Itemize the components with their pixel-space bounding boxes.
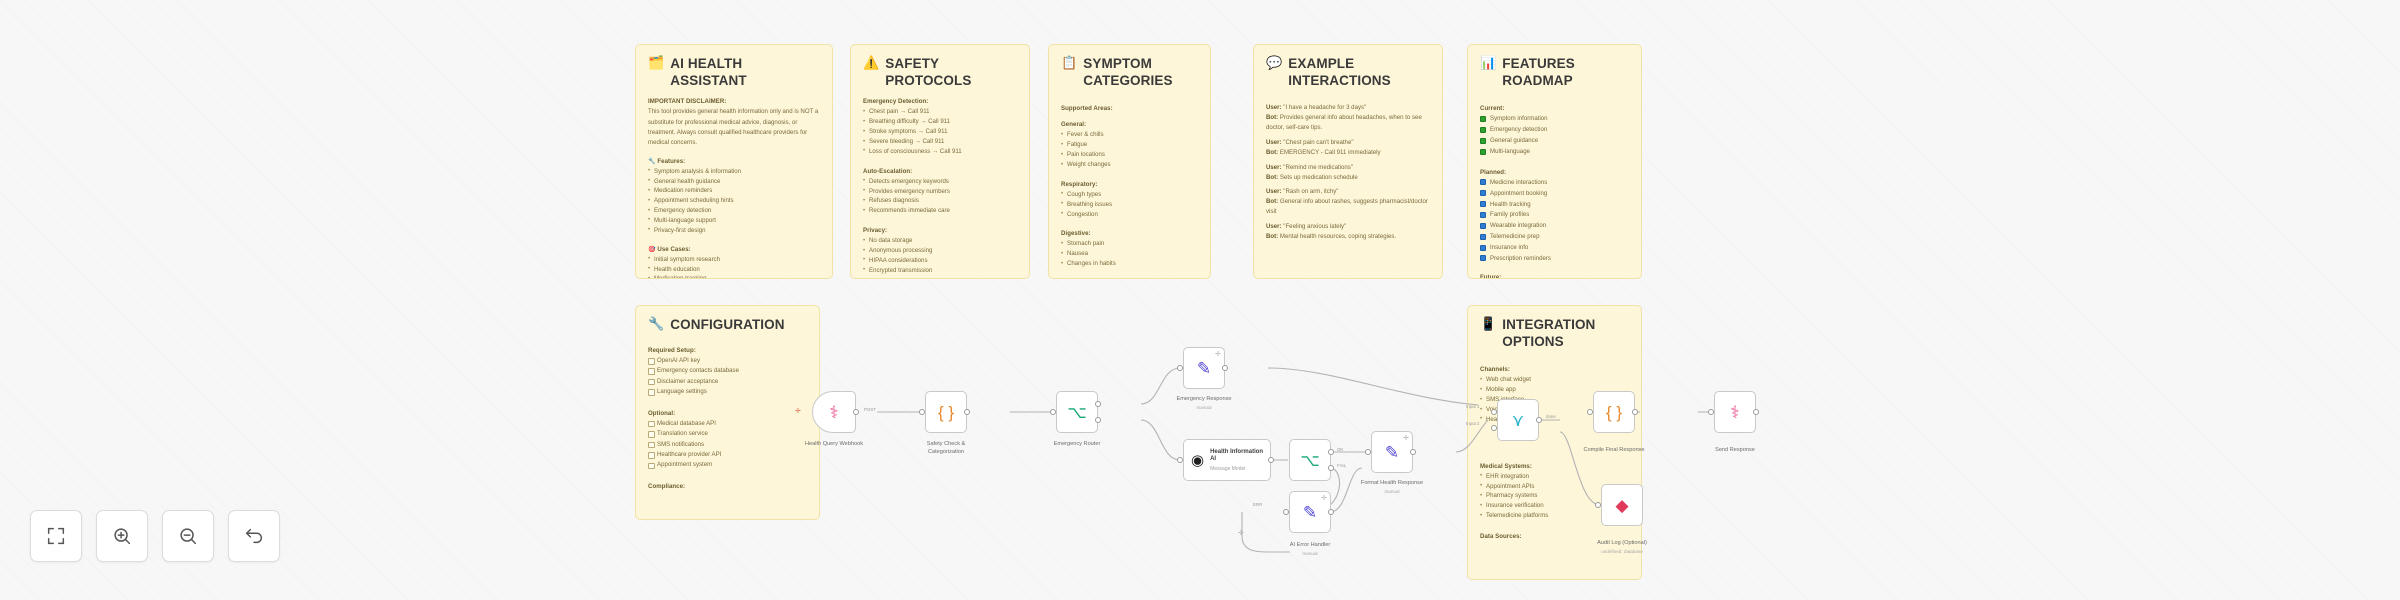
add-node-plus[interactable]: ✛	[1321, 495, 1327, 502]
fit-view-icon	[45, 525, 67, 547]
node-health-information-ai[interactable]: ◉ Health Information AI Message Model	[1183, 439, 1271, 481]
node-audit-log[interactable]: ◆	[1601, 484, 1643, 526]
canvas-toolbar[interactable]	[30, 510, 280, 562]
merge-icon: ⋎	[1512, 412, 1524, 429]
node-compile-final-response[interactable]: { }	[1593, 391, 1635, 433]
node-input-port[interactable]	[1177, 457, 1183, 463]
node-output-port[interactable]	[1222, 365, 1228, 371]
node-input-port[interactable]	[1708, 409, 1714, 415]
zoom-in-button[interactable]	[96, 510, 148, 562]
webhook-icon: ⚕	[1730, 404, 1739, 421]
node-output-port[interactable]	[1632, 409, 1638, 415]
merge-input-2-port[interactable]	[1491, 425, 1497, 431]
node-input-port[interactable]	[1365, 449, 1371, 455]
node-send-response[interactable]: ⚕	[1714, 391, 1756, 433]
node-emergency-router[interactable]: ⌥	[1056, 391, 1098, 433]
edge-label: ERR	[1253, 502, 1262, 507]
edit-icon: ✎	[1385, 444, 1399, 461]
webhook-icon: ⚕	[829, 404, 838, 421]
fit-view-button[interactable]	[30, 510, 82, 562]
switch-icon: ⌥	[1300, 452, 1320, 469]
node-sublabel: undefined: database	[1601, 549, 1643, 554]
node-safety-check[interactable]: { }	[925, 391, 967, 433]
zoom-out-button[interactable]	[162, 510, 214, 562]
node-output-port[interactable]	[964, 409, 970, 415]
code-icon: { }	[1606, 404, 1622, 421]
add-node-plus[interactable]: ✛	[1403, 435, 1409, 442]
node-label: Safety Check & Categorization	[911, 441, 981, 456]
node-input-port[interactable]	[1283, 509, 1289, 515]
node-output-port-fail[interactable]	[1328, 465, 1334, 471]
node-output-port-false[interactable]	[1095, 417, 1101, 423]
node-output-port-ok[interactable]	[1328, 449, 1334, 455]
add-node-plus[interactable]: ✛	[1238, 530, 1244, 537]
node-sublabel: manual	[1302, 551, 1317, 556]
node-output-port[interactable]	[1268, 457, 1274, 463]
node-output-port[interactable]	[1328, 509, 1334, 515]
add-node-plus[interactable]: ✛	[795, 408, 801, 415]
switch-icon: ⌥	[1067, 404, 1087, 421]
edit-icon: ✎	[1303, 504, 1317, 521]
node-label: Audit Log (Optional)	[1597, 540, 1647, 548]
add-node-plus[interactable]: ✛	[1215, 351, 1221, 358]
node-subtitle: Message Model	[1210, 466, 1270, 472]
edge-label: Input 1	[1466, 404, 1479, 409]
merge-input-1-port[interactable]	[1491, 409, 1497, 415]
node-output-port[interactable]	[1410, 449, 1416, 455]
node-format-health-response[interactable]: ✎ ✛	[1371, 431, 1413, 473]
edge-label: FAIL	[1337, 463, 1346, 468]
zoom-in-icon	[111, 525, 133, 547]
node-label: Send Response	[1715, 447, 1755, 455]
node-health-query-webhook[interactable]: ⚕	[812, 391, 856, 433]
code-icon: { }	[938, 404, 954, 421]
edge-label: OK	[1337, 447, 1343, 452]
node-input-port[interactable]	[1595, 502, 1601, 508]
database-icon: ◆	[1615, 497, 1628, 514]
zoom-out-icon	[177, 525, 199, 547]
node-input-port[interactable]	[1177, 365, 1183, 371]
node-output-port[interactable]	[853, 409, 859, 415]
node-title: Health Information AI	[1210, 449, 1270, 464]
node-emergency-response[interactable]: ✎ ✛	[1183, 347, 1225, 389]
node-ai-error-handler[interactable]: ✎ ✛	[1289, 491, 1331, 533]
node-label: AI Error Handler	[1290, 542, 1330, 550]
node-response-switch[interactable]: ⌥	[1289, 439, 1331, 481]
edge-label: POST	[864, 407, 876, 412]
reset-zoom-button[interactable]	[228, 510, 280, 562]
node-output-port[interactable]	[1536, 417, 1542, 423]
node-output-port-true[interactable]	[1095, 401, 1101, 407]
node-sublabel: manual	[1196, 405, 1211, 410]
node-input-port[interactable]	[1587, 409, 1593, 415]
node-label: Format Health Response	[1361, 480, 1423, 488]
edge-label: done	[1546, 414, 1556, 419]
edge-label: Input 2	[1466, 421, 1479, 426]
node-output-port[interactable]	[1753, 409, 1759, 415]
node-label: Emergency Response	[1176, 396, 1231, 404]
node-label: Health Query Webhook	[805, 441, 863, 449]
openai-icon: ◉	[1191, 453, 1204, 468]
node-merge[interactable]: ⋎	[1497, 399, 1539, 441]
node-input-port[interactable]	[1050, 409, 1056, 415]
workflow-canvas[interactable]: 🗂️ AI HEALTH ASSISTANT IMPORTANT DISCLAI…	[0, 0, 2400, 600]
undo-arrow-icon	[243, 525, 265, 547]
node-sublabel: manual	[1384, 489, 1399, 494]
node-label: Compile Final Response	[1584, 447, 1645, 455]
node-label: Emergency Router	[1054, 441, 1101, 449]
node-input-port[interactable]	[919, 409, 925, 415]
edit-icon: ✎	[1197, 360, 1211, 377]
